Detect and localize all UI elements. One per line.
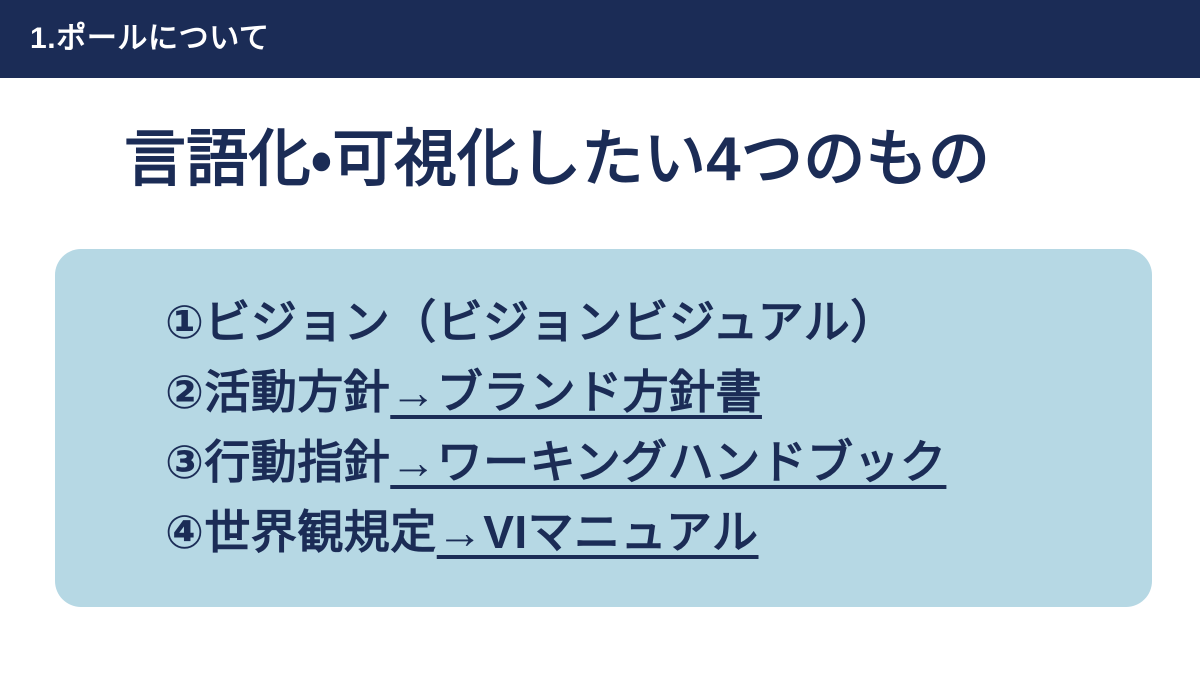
list-item-emphasis: →VIマニュアル xyxy=(437,506,759,558)
content-card: ①ビジョン（ビジョンビジュアル） ②活動方針→ブランド方針書 ③行動指針→ワーキ… xyxy=(55,249,1152,607)
list-item-lead: ビジョン（ビジョンビジュアル） xyxy=(204,296,896,348)
list-item-lead: 行動指針 xyxy=(204,436,390,488)
slide-root: 1.ポールについて 言語化・可視化したい4つのもの ①ビジョン（ビジョンビジュア… xyxy=(0,0,1200,675)
list-item-number: ③ xyxy=(165,436,204,488)
list-item: ④世界観規定→VIマニュアル xyxy=(165,497,946,567)
section-header-label: 1.ポールについて xyxy=(30,19,270,59)
list-item-number: ④ xyxy=(165,506,204,558)
page-title: 言語化・可視化したい4つのもの xyxy=(124,124,990,196)
item-list: ①ビジョン（ビジョンビジュアル） ②活動方針→ブランド方針書 ③行動指針→ワーキ… xyxy=(165,287,946,567)
list-item-emphasis: →ワーキングハンドブック xyxy=(390,436,946,488)
list-item: ①ビジョン（ビジョンビジュアル） xyxy=(165,287,946,357)
list-item: ②活動方針→ブランド方針書 xyxy=(165,357,946,427)
list-item-emphasis: →ブランド方針書 xyxy=(390,366,762,418)
list-item-lead: 世界観規定 xyxy=(204,506,436,558)
list-item-lead: 活動方針 xyxy=(204,366,390,418)
list-item: ③行動指針→ワーキングハンドブック xyxy=(165,427,946,497)
list-item-number: ① xyxy=(165,296,204,348)
header-band: 1.ポールについて xyxy=(0,0,1200,78)
list-item-number: ② xyxy=(165,366,204,418)
